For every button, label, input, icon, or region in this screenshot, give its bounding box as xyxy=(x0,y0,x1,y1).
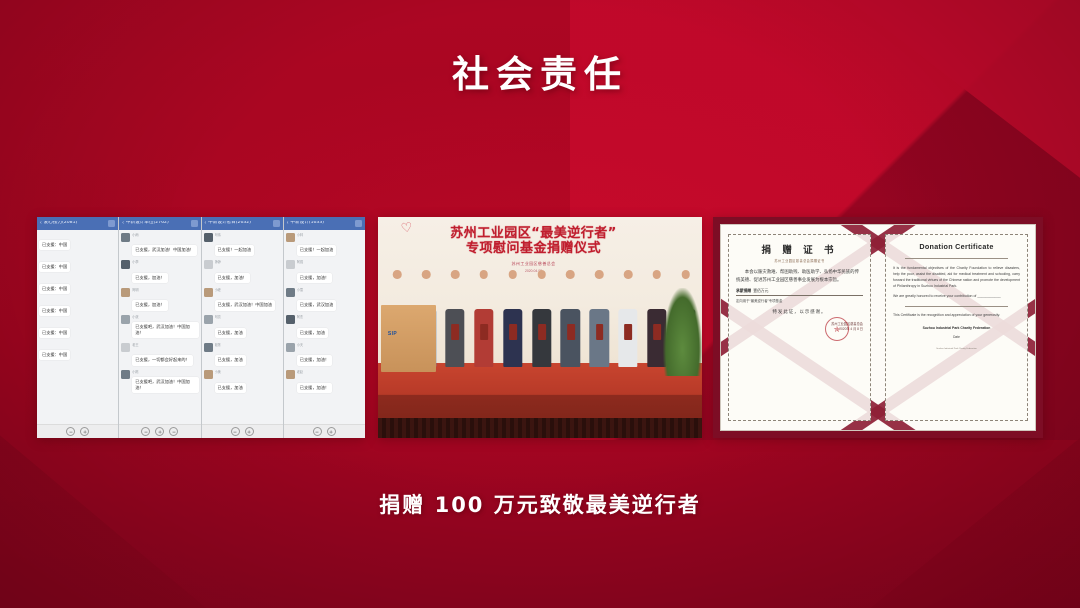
chat-bubble: 已支援，加油 xyxy=(297,328,328,338)
certificate-amount-row: 承蒙捐赠 壹佰万元 xyxy=(736,289,863,296)
chat-message: 已支援：中国 xyxy=(39,299,116,317)
red-seal-stamp-icon: ✯ xyxy=(825,317,849,341)
chat-message: 已支援：中国 xyxy=(39,233,116,251)
chat-bubble: 已支援吧，武汉加油！中国加油！ xyxy=(132,377,198,393)
chat-titlebar: ‹ 中新设计(1633) xyxy=(284,217,365,230)
ceremony-photo[interactable]: ♡ 苏州工业园区“最美逆行者” 专项慰问基金捐赠仪式 苏州工业园区慈善总会 20… xyxy=(378,217,702,438)
divider xyxy=(905,258,1008,259)
certificate-heading-cn: 捐 赠 证 书 xyxy=(736,242,863,256)
person xyxy=(532,270,551,367)
chat-messages: 阿伟已支援！一起加油 静静已支援，加油！ 小峰已支援，武汉加油！中国加油 阿亮已… xyxy=(202,230,283,424)
page-title: 社会责任 xyxy=(0,44,1080,98)
chat-nickname: 阿明 xyxy=(132,288,198,292)
chat-bubble: 已支援，武汉加油！中国加油 xyxy=(215,300,275,310)
chat-bubble: 已支援，武汉加油 xyxy=(297,300,337,310)
chat-bubble: 已支援吧，武汉加油！中国加油！ xyxy=(132,322,198,338)
person xyxy=(503,270,522,367)
stage-floor xyxy=(378,363,702,438)
chat-message: 小林已支援！一起加油 xyxy=(286,233,363,256)
chat-nickname: 老王 xyxy=(132,343,198,347)
plus-icon[interactable] xyxy=(155,427,164,436)
certificate-body-en: It is the fundamental objectives of the … xyxy=(893,265,1020,319)
avatar xyxy=(121,343,130,352)
chat-message: 小雪已支援，武汉加油 xyxy=(286,288,363,311)
banner-line-1: 苏州工业园区“最美逆行者” xyxy=(397,226,669,241)
avatar xyxy=(121,233,130,242)
certificate-signature-en: Suzhou Industrial Park Charity Federatio… xyxy=(893,326,1020,331)
chat-bubble: 已支援，加油！ xyxy=(132,300,167,310)
chat-column: ‹ 中新设计(1633) 小林已支援！一起加油 阿强已支援，加油！ 小雪已支援，… xyxy=(284,217,365,438)
group-icon[interactable] xyxy=(273,220,280,227)
chat-message: 阿亮已支援，加油 xyxy=(204,315,281,338)
chat-nickname: 小林 xyxy=(297,233,363,237)
chat-bubble: 已支援！一起加油 xyxy=(215,245,255,255)
avatar xyxy=(204,343,213,352)
group-icon[interactable] xyxy=(191,220,198,227)
certificate-body-cn: 本会以赈灾救难、帮困助残、助医助学、弘扬中华民族的传统美德、促进苏州工业园区慈善… xyxy=(736,269,863,284)
certificate-heading-en: Donation Certificate xyxy=(893,242,1020,251)
certificate-purpose: 定向用于“最美逆行者”专项基金 xyxy=(736,298,863,303)
chat-message: 小天已支援，加油！ xyxy=(286,343,363,366)
plant-decoration xyxy=(663,288,702,376)
chat-title: 中新设计(1633) xyxy=(290,221,353,226)
certificate-photo[interactable]: 捐 赠 证 书 苏州工业园区慈善总会捐赠证书 本会以赈灾救难、帮困助残、助医助学… xyxy=(713,217,1043,438)
certificate-frame: 捐 赠 证 书 苏州工业园区慈善总会捐赠证书 本会以赈灾救难、帮困助残、助医助学… xyxy=(713,217,1043,438)
chat-message: 小李已支援，加油！ xyxy=(121,260,198,283)
chat-bubble: 已支援，武汉加油！中国加油！ xyxy=(132,245,197,255)
chat-nickname: 小陈 xyxy=(132,370,198,374)
chat-bubble: 已支援，一切都会好起来的！ xyxy=(132,355,192,365)
chat-message: 小峰已支援，武汉加油！中国加油 xyxy=(204,288,281,311)
certificate-paragraph-2: We are greatly honored to receive your c… xyxy=(893,293,1020,299)
avatar xyxy=(204,315,213,324)
chat-message: 阿伟已支援！一起加油 xyxy=(204,233,281,256)
podium: SIP xyxy=(381,305,436,371)
divider xyxy=(905,306,1008,307)
chat-footer xyxy=(202,424,283,438)
ceremony-scene: ♡ 苏州工业园区“最美逆行者” 专项慰问基金捐赠仪式 苏州工业园区慈善总会 20… xyxy=(378,217,702,438)
chat-title: 爱心接力(2081) xyxy=(44,221,107,226)
chat-column: ‹ 中新设计者日(2632) 阿伟已支援！一起加油 静静已支援，加油！ 小峰已支… xyxy=(202,217,284,438)
certificate-footnote-en: Suzhou Industrial Park Charity Federatio… xyxy=(893,348,1020,350)
emoji-icon[interactable] xyxy=(231,427,240,436)
avatar xyxy=(121,315,130,324)
chat-nickname: 老赵 xyxy=(297,370,363,374)
chat-bubble: 已支援，加油 xyxy=(215,355,246,365)
page-caption: 捐赠 100 万元致敬最美逆行者 xyxy=(0,489,1080,519)
certificate-date-label-en: Date xyxy=(893,335,1020,339)
avatar xyxy=(121,288,130,297)
chat-message: 已支援：中国 xyxy=(39,321,116,339)
voice-icon[interactable] xyxy=(169,427,178,436)
plus-icon[interactable] xyxy=(245,427,254,436)
emoji-icon[interactable] xyxy=(66,427,75,436)
certificate-page-chinese: 捐 赠 证 书 苏州工业园区慈善总会捐赠证书 本会以赈灾救难、帮困助残、助医助学… xyxy=(728,234,871,421)
group-icon[interactable] xyxy=(355,220,362,227)
banner-line-2: 专项慰问基金捐赠仪式 xyxy=(397,241,669,256)
certificate-subheading-cn: 苏州工业园区慈善总会捐赠证书 xyxy=(736,258,863,263)
avatar xyxy=(286,370,295,379)
certificate-seal-block: ✯ 苏州工业园区慈善总会 2020年 4 月 8 日 xyxy=(736,321,863,331)
amount-label: 承蒙捐赠 xyxy=(736,289,751,294)
chat-footer xyxy=(119,424,200,438)
chat-bubble: 已支援，加油 xyxy=(215,328,246,338)
back-icon[interactable]: ‹ xyxy=(287,221,289,226)
chat-nickname: 静静 xyxy=(215,260,281,264)
chat-nickname: 阿强 xyxy=(297,260,363,264)
chat-messages: 已支援：中国 已支援：中国 已支援：中国 已支援：中国 已支援：中国 已支援：中… xyxy=(37,230,118,424)
chat-footer xyxy=(284,424,365,438)
chat-nickname: 小雨 xyxy=(132,233,198,237)
back-icon[interactable]: ‹ xyxy=(205,221,207,226)
person xyxy=(474,270,493,367)
certificate-paragraph-3: This Certificate is the recognition and … xyxy=(893,312,1020,318)
avatar xyxy=(204,233,213,242)
chat-message: 阿明已支援，加油！ xyxy=(121,288,198,311)
podium-logo: SIP xyxy=(388,331,397,337)
chat-message: 阿杰已支援，加油 xyxy=(286,315,363,338)
avatar xyxy=(286,288,295,297)
avatar xyxy=(121,370,130,379)
chat-column: ‹ 爱心接力(2081) 已支援：中国 已支援：中国 已支援：中国 已支援：中国… xyxy=(37,217,119,438)
chat-nickname: 小美 xyxy=(215,370,281,374)
chat-titlebar: ‹ 爱心接力(2081) xyxy=(37,217,118,230)
chat-title: 中新设计单位(2762) xyxy=(126,221,189,226)
emoji-icon[interactable] xyxy=(313,427,322,436)
chat-titlebar: ‹ 中新设计者日(2632) xyxy=(202,217,283,230)
person xyxy=(590,270,609,367)
back-icon[interactable]: ‹ xyxy=(40,221,42,226)
chat-bubble: 已支援！一起加油 xyxy=(297,245,337,255)
avatar xyxy=(286,233,295,242)
chat-bubble: 已支援，加油 xyxy=(215,383,246,393)
chat-bubble: 已支援：中国 xyxy=(39,328,70,338)
banner-subtitle: 苏州工业园区慈善总会 xyxy=(397,261,669,267)
chat-bubble: 已支援，加油！ xyxy=(215,273,250,283)
emoji-icon[interactable] xyxy=(141,427,150,436)
chat-nickname: 小天 xyxy=(297,343,363,347)
chat-bubble: 已支援，加油！ xyxy=(132,273,167,283)
chat-message: 小陈已支援吧，武汉加油！中国加油！ xyxy=(121,370,198,393)
chat-message: 老陈已支援，加油 xyxy=(204,343,281,366)
certificate-page-english: Donation Certificate It is the fundament… xyxy=(885,234,1028,421)
chat-bubble: 已支援，加油！ xyxy=(297,383,332,393)
plus-icon[interactable] xyxy=(327,427,336,436)
chat-nickname: 小李 xyxy=(132,260,198,264)
person xyxy=(445,270,464,367)
chat-message: 已支援：中国 xyxy=(39,255,116,273)
chat-nickname: 阿亮 xyxy=(215,315,281,319)
chat-message: 阿强已支援，加油！ xyxy=(286,260,363,283)
chat-nickname: 阿杰 xyxy=(297,315,363,319)
chat-nickname: 小峰 xyxy=(215,288,281,292)
avatar xyxy=(204,260,213,269)
chat-title: 中新设计者日(2632) xyxy=(208,221,271,226)
chat-messages: 小林已支援！一起加油 阿强已支援，加油！ 小雪已支援，武汉加油 阿杰已支援，加油… xyxy=(284,230,365,424)
chat-message: 小美已支援，加油 xyxy=(204,370,281,393)
chat-bubble: 已支援：中国 xyxy=(39,262,70,272)
chat-bubble: 已支援，加油！ xyxy=(297,355,332,365)
person xyxy=(561,270,580,367)
chat-nickname: 小雪 xyxy=(297,288,363,292)
avatar xyxy=(286,260,295,269)
chat-message: 老赵已支援，加油！ xyxy=(286,370,363,393)
certificate-thanks: 特发此证，以示感谢。 xyxy=(736,309,863,315)
avatar xyxy=(204,370,213,379)
chat-bubble: 已支援，加油！ xyxy=(297,273,332,283)
certificate-paragraph-1: It is the fundamental objectives of the … xyxy=(893,265,1020,289)
amount-value: 壹佰万元 xyxy=(753,289,768,294)
avatar xyxy=(286,343,295,352)
chat-message: 老王已支援，一切都会好起来的！ xyxy=(121,343,198,366)
avatar xyxy=(121,260,130,269)
avatar xyxy=(204,288,213,297)
chat-titlebar: ‹ 中新设计单位(2762) xyxy=(119,217,200,230)
chat-message: 小雨已支援，武汉加油！中国加油！ xyxy=(121,233,198,256)
chat-footer xyxy=(37,424,118,438)
wechat-chat-screenshot[interactable]: ‹ 爱心接力(2081) 已支援：中国 已支援：中国 已支援：中国 已支援：中国… xyxy=(37,217,365,438)
group-icon[interactable] xyxy=(108,220,115,227)
chat-column: ‹ 中新设计单位(2762) 小雨已支援，武汉加油！中国加油！ 小李已支援，加油… xyxy=(119,217,201,438)
chat-nickname: 小张 xyxy=(132,315,198,319)
chat-bubble: 已支援：中国 xyxy=(39,240,70,250)
chat-message: 小张已支援吧，武汉加油！中国加油！ xyxy=(121,315,198,338)
avatar xyxy=(286,315,295,324)
chat-message: 静静已支援，加油！ xyxy=(204,260,281,283)
certificate-inner: 捐 赠 证 书 苏州工业园区慈善总会捐赠证书 本会以赈灾救难、帮困助残、助医助学… xyxy=(720,224,1036,431)
chat-bubble: 已支援：中国 xyxy=(39,284,70,294)
plus-icon[interactable] xyxy=(80,427,89,436)
chat-message: 已支援：中国 xyxy=(39,277,116,295)
back-icon[interactable]: ‹ xyxy=(122,221,124,226)
chat-bubble: 已支援：中国 xyxy=(39,350,70,360)
chat-messages: 小雨已支援，武汉加油！中国加油！ 小李已支援，加油！ 阿明已支援，加油！ 小张已… xyxy=(119,230,200,424)
person xyxy=(618,270,637,367)
chat-nickname: 老陈 xyxy=(215,343,281,347)
chat-nickname: 阿伟 xyxy=(215,233,281,237)
ceremony-banner: 苏州工业园区“最美逆行者” 专项慰问基金捐赠仪式 苏州工业园区慈善总会 2020… xyxy=(397,226,669,274)
chat-bubble: 已支援：中国 xyxy=(39,306,70,316)
chat-message: 已支援：中国 xyxy=(39,343,116,361)
chat-columns: ‹ 爱心接力(2081) 已支援：中国 已支援：中国 已支援：中国 已支援：中国… xyxy=(37,217,365,438)
